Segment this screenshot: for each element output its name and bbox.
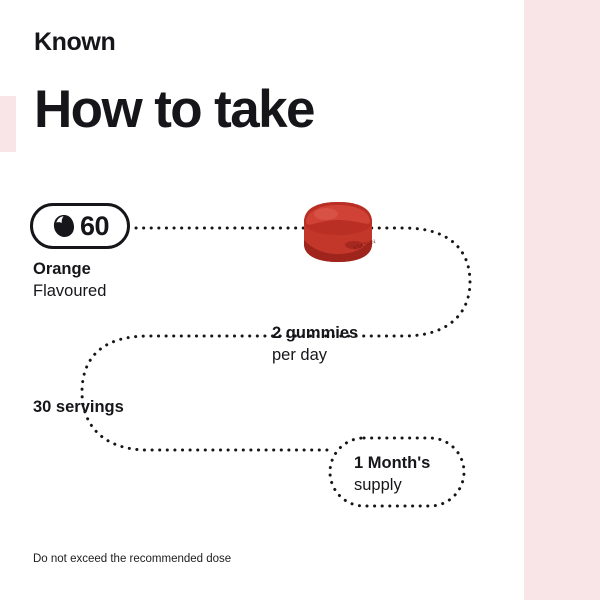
poster-canvas: Known How to take KNOWN 60 Orang [0,0,600,600]
servings-label: 30 servings [33,396,124,418]
month-bold: 1 Month's [354,452,430,474]
servings-bold: 30 servings [33,396,124,418]
orange-count-badge: 60 [30,203,130,249]
orange-flavour-bold: Orange [33,258,106,280]
footnote-text: Do not exceed the recommended dose [33,553,231,565]
gummies-bold: 2 gummies [272,322,358,344]
gummies-regular: per day [272,344,358,366]
badge-count: 60 [80,213,109,240]
month-supply-label: 1 Month's supply [354,452,430,497]
gummy-candy: KNOWN [304,202,376,262]
orange-slice-icon [51,213,77,239]
month-regular: supply [354,474,430,496]
orange-flavour-label: Orange Flavoured [33,258,106,303]
orange-flavour-regular: Flavoured [33,280,106,302]
gummies-per-day-label: 2 gummies per day [272,322,358,367]
